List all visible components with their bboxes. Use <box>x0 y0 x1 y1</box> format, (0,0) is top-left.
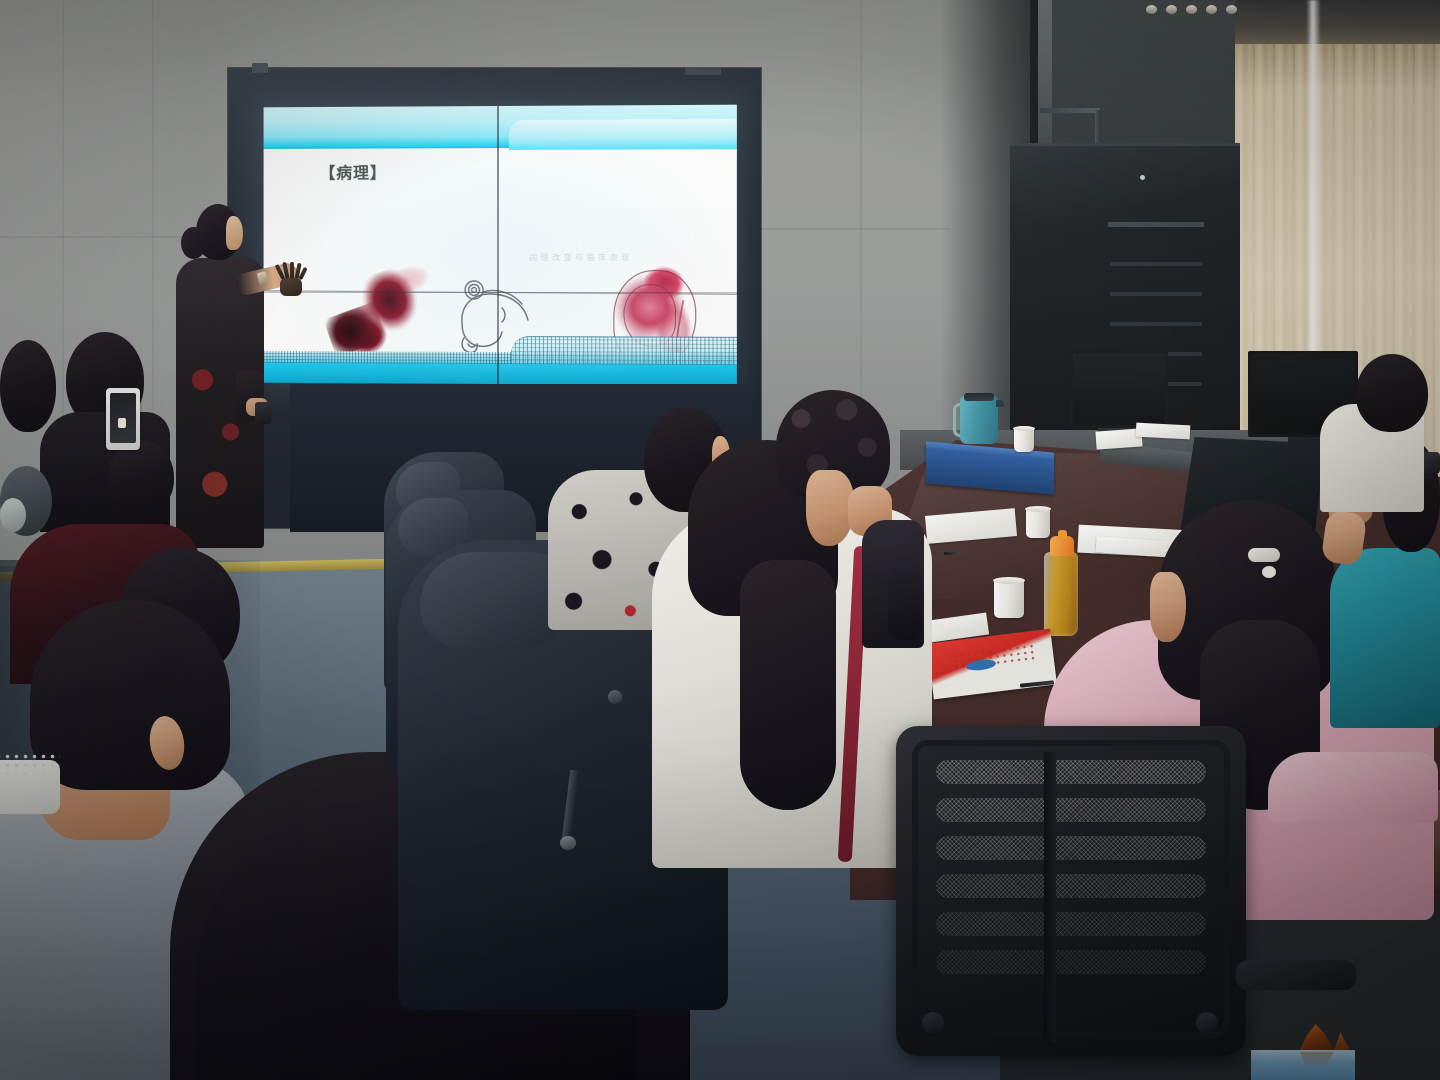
attendee-head <box>108 440 174 514</box>
rack-slot <box>1110 322 1202 326</box>
pen[interactable] <box>944 552 958 555</box>
chair-mesh-slat <box>936 836 1206 860</box>
document-stack <box>1136 423 1191 440</box>
wall-seam <box>760 228 950 230</box>
bottle-spout <box>1058 530 1067 539</box>
paper-cup-rim <box>1025 506 1051 512</box>
attendee-foreground-grey-hair <box>30 600 230 790</box>
attendee-pink-arm <box>1268 752 1438 822</box>
chair-armrest <box>1236 960 1356 990</box>
video-wall-bracket <box>685 68 721 75</box>
attendee-head <box>1356 354 1428 432</box>
paper-cup[interactable] <box>994 580 1024 618</box>
wallpaper-rock-small <box>1334 1032 1350 1050</box>
chair-mesh-slat <box>936 950 1206 974</box>
chair-mesh-slat <box>936 798 1206 822</box>
chair-back-bolt <box>922 1012 944 1034</box>
curtain-ring <box>1226 5 1237 14</box>
chair-lever-knob[interactable] <box>560 836 576 850</box>
presenter-remote[interactable] <box>255 402 271 424</box>
slide-top-band-notch <box>509 119 737 150</box>
slide-title: 【病理】 <box>320 159 387 183</box>
paper-cup-rim <box>1013 426 1035 431</box>
slide-bottom-mesh-rise <box>511 336 737 365</box>
paper-cup-rim <box>993 577 1025 584</box>
wallpaper-rock <box>1300 1024 1334 1050</box>
bottle-cap[interactable] <box>1050 536 1074 556</box>
attendee-necklace <box>0 752 60 774</box>
rack-slot <box>1110 292 1202 296</box>
desktop-monitor-webpage[interactable] <box>1070 350 1168 428</box>
presenter-palm <box>280 278 302 296</box>
chair-mesh-slat <box>936 874 1206 898</box>
chair-back-spine <box>1044 752 1056 1042</box>
presenter-face <box>226 216 243 250</box>
attendee-face <box>806 470 854 546</box>
attendee-head <box>0 340 56 432</box>
attendee-teal-phone <box>1330 548 1440 728</box>
slide-subtext: 病理改变与临床表现 <box>529 252 633 263</box>
white-hair-tie <box>1248 548 1280 562</box>
chair-mesh-slat <box>936 760 1206 784</box>
attendee-face <box>1150 572 1186 642</box>
kettle-spout <box>996 400 1004 407</box>
video-wall[interactable]: 【病理】 病理改变与临床表现 <box>264 105 737 386</box>
hair-flower-clip <box>0 498 26 532</box>
chair-adjust-knob[interactable] <box>608 690 622 704</box>
white-hair-tie-bead <box>1262 566 1276 578</box>
paper-cup[interactable] <box>1026 508 1050 538</box>
conference-room-photo: 【病理】 病理改变与临床表现 <box>0 0 1440 1080</box>
chair-back-bolt <box>1196 1012 1218 1034</box>
attendee-ponytail <box>740 560 836 810</box>
curtain-header <box>1235 0 1440 44</box>
mesh-office-chair[interactable] <box>896 726 1246 1056</box>
attendee-sleeve <box>888 570 922 640</box>
kettle-lid <box>964 393 994 401</box>
paper-cup[interactable] <box>1014 428 1034 452</box>
chair-mesh-slat <box>936 912 1206 936</box>
curtain-ring <box>1146 5 1157 14</box>
panel-mullion-vertical <box>497 106 499 384</box>
phone-viewfinder-glow <box>118 418 126 428</box>
rack-slot <box>1110 262 1202 266</box>
electric-kettle[interactable] <box>960 396 998 444</box>
curtain-ring <box>1186 5 1197 14</box>
rack-label-plate <box>1108 222 1204 227</box>
rack-status-led <box>1140 175 1145 180</box>
ceiling-mount-post <box>1038 0 1052 150</box>
water-bottle-orange-cap[interactable] <box>1044 552 1078 636</box>
video-wall-bracket <box>252 63 268 73</box>
curtain-ring <box>1206 5 1217 14</box>
curtain-ring <box>1166 5 1177 14</box>
ceiling-bracket-arm <box>1040 108 1100 113</box>
